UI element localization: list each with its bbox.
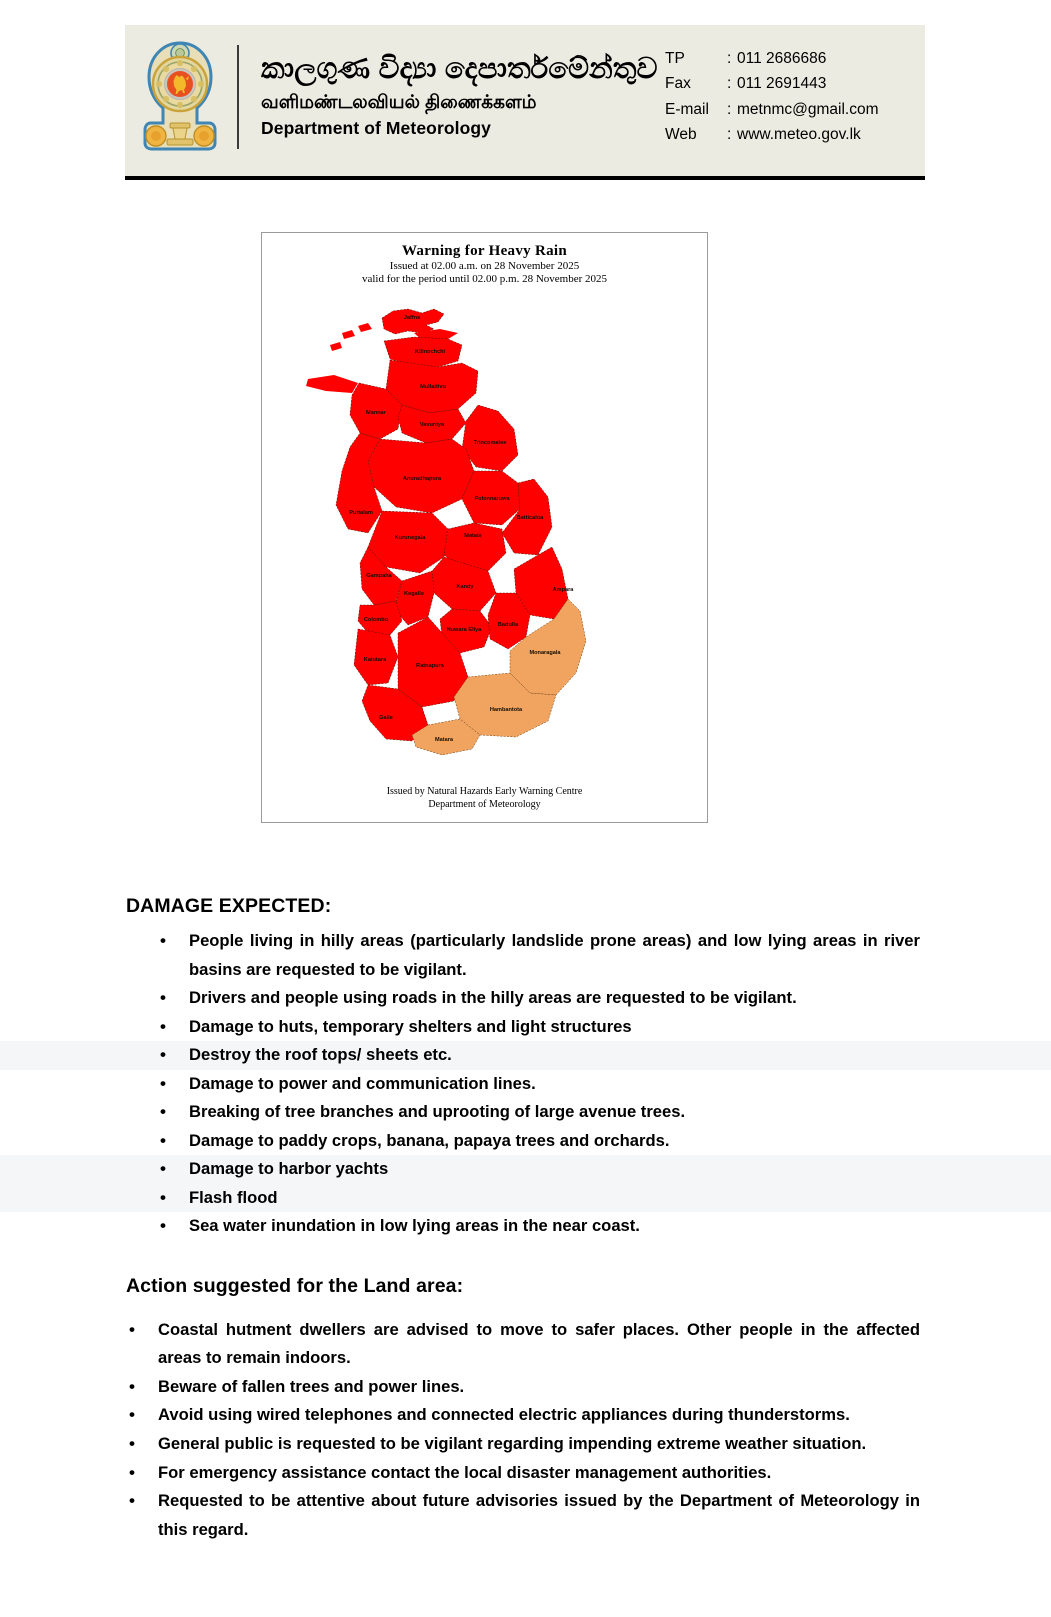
contact-details: TP : 011 2686686 Fax : 011 2691443 E-mai… [653,46,925,146]
department-names: කාලගුණ විද්‍යා දෙපාර්තමේන්තුව வளிமண்டலவி… [261,51,653,143]
list-item: Damage to power and communication lines. [0,1070,1051,1099]
svg-text:Trincomalee: Trincomalee [474,440,507,446]
contact-separator: : [727,97,737,122]
contact-separator: : [727,46,737,71]
list-item: Avoid using wired telephones and connect… [0,1401,1051,1430]
svg-text:Batticaloa: Batticaloa [517,515,545,521]
svg-text:Kurunegala: Kurunegala [395,535,427,541]
contact-row-tp: TP : 011 2686686 [665,46,925,71]
sri-lanka-risk-map: Jaffna Kilinochchi Mullaitivu Mannar Vav… [262,233,708,823]
svg-text:Nuwara Eliya: Nuwara Eliya [447,627,483,633]
svg-text:Polonnaruwa: Polonnaruwa [474,496,510,502]
contact-label-email: E-mail [665,97,727,122]
contact-value-web[interactable]: www.meteo.gov.lk [737,122,925,147]
map-footer: Issued by Natural Hazards Early Warning … [262,786,707,812]
svg-text:Kandy: Kandy [456,584,474,590]
svg-text:Matara: Matara [435,737,454,743]
department-name-english: Department of Meteorology [261,115,653,142]
map-footer-line2: Department of Meteorology [262,799,707,812]
svg-text:Jaffna: Jaffna [404,315,421,321]
contact-separator: : [727,71,737,96]
svg-text:Gampaha: Gampaha [366,573,392,579]
list-item: For emergency assistance contact the loc… [0,1459,1051,1488]
svg-text:Kalutara: Kalutara [364,657,387,663]
contact-value-fax: 011 2691443 [737,71,925,96]
contact-label-web: Web [665,122,727,147]
list-item: General public is requested to be vigila… [0,1430,1051,1459]
advisory-content: DAMAGE EXPECTED: People living in hilly … [0,895,1051,1544]
department-name-sinhala: කාලගුණ විද්‍යා දෙපාර්තමේන්තුව [261,51,653,88]
svg-text:Kilinochchi: Kilinochchi [415,349,446,355]
svg-text:Ratnapura: Ratnapura [416,663,445,669]
district-mannar-island [306,375,358,393]
list-item: Drivers and people using roads in the hi… [0,984,1051,1013]
svg-text:Ampara: Ampara [553,587,575,593]
svg-text:Mannar: Mannar [366,410,387,416]
svg-text:Matale: Matale [464,533,481,539]
list-item: Requested to be attentive about future a… [0,1487,1051,1544]
contact-label-fax: Fax [665,71,727,96]
svg-text:Galle: Galle [379,715,393,721]
contact-row-email: E-mail : metnmc@gmail.com [665,97,925,122]
svg-text:Mullaitivu: Mullaitivu [420,384,446,390]
contact-value-tp: 011 2686686 [737,46,925,71]
contact-label-tp: TP [665,46,727,71]
list-item: Beware of fallen trees and power lines. [0,1373,1051,1402]
svg-text:Monaragala: Monaragala [529,650,561,656]
action-suggested-list: Coastal hutment dwellers are advised to … [0,1316,1051,1544]
department-name-tamil: வளிமண்டலவியல் திணைக்களம் [261,88,653,116]
map-footer-line1: Issued by Natural Hazards Early Warning … [262,786,707,799]
map-regions [306,309,586,755]
svg-text:Colombo: Colombo [364,617,389,623]
list-item: Coastal hutment dwellers are advised to … [0,1316,1051,1373]
header-rule [125,176,925,180]
svg-text:Anuradhapura: Anuradhapura [403,476,442,482]
header-divider [237,45,239,149]
list-item: Damage to harbor yachts [0,1155,1051,1184]
list-item: Destroy the roof tops/ sheets etc. [0,1041,1051,1070]
list-item: Sea water inundation in low lying areas … [0,1212,1051,1241]
svg-text:Vavuniya: Vavuniya [420,422,445,428]
list-item: Damage to huts, temporary shelters and l… [0,1013,1051,1042]
letterhead: කාලගුණ විද්‍යා දෙපාර්තමේන්තුව வளிமண்டலவி… [125,25,925,176]
contact-separator: : [727,122,737,147]
svg-text:Badulla: Badulla [498,622,519,628]
svg-text:Puttalam: Puttalam [349,510,373,516]
list-item: Flash flood [0,1184,1051,1213]
contact-value-email[interactable]: metnmc@gmail.com [737,97,925,122]
damage-expected-list: People living in hilly areas (particular… [0,927,1051,1241]
list-item: Damage to paddy crops, banana, papaya tr… [0,1127,1051,1156]
svg-text:Puttalam: Puttalam [349,233,373,235]
list-item: People living in hilly areas (particular… [0,927,1051,984]
action-suggested-heading: Action suggested for the Land area: [126,1275,1051,1298]
damage-expected-heading: DAMAGE EXPECTED: [126,895,1051,918]
svg-text:Kegalle: Kegalle [404,591,424,597]
warning-map-panel: Warning for Heavy Rain Issued at 02.00 a… [261,232,708,823]
svg-text:Hambantota: Hambantota [490,707,523,713]
national-emblem-icon [137,38,223,156]
contact-row-fax: Fax : 011 2691443 [665,71,925,96]
list-item: Breaking of tree branches and uprooting … [0,1098,1051,1127]
contact-row-web: Web : www.meteo.gov.lk [665,122,925,147]
district-jaffna-islets [330,323,372,351]
